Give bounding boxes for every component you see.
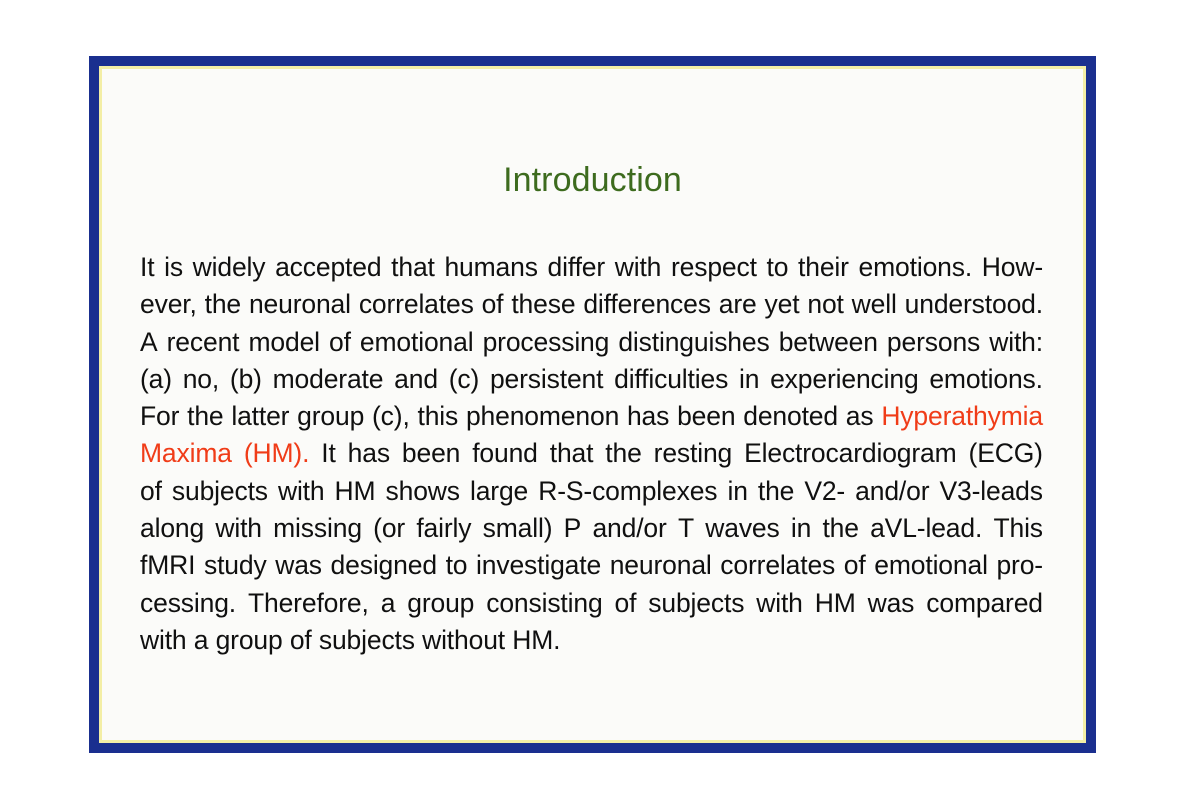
body-line: fMRIstudywasdesignedtoinvestigateneurona…: [140, 547, 1043, 584]
accent-term: Maxima: [140, 435, 232, 472]
body-word: (or: [373, 510, 405, 547]
body-word: along: [140, 510, 204, 547]
body-word: a: [194, 622, 209, 659]
body-word: been: [402, 435, 460, 472]
body-word: model: [248, 324, 319, 361]
body-word: with: [140, 622, 187, 659]
body-word: emotions.: [929, 361, 1043, 398]
body-word: consisting: [486, 585, 602, 622]
word-space: [505, 622, 512, 659]
body-word: group: [297, 398, 364, 435]
body-word: Therefore,: [248, 585, 369, 622]
body-word: the: [187, 398, 223, 435]
body-word: V2-: [804, 473, 845, 510]
body-word: difficulties: [614, 361, 728, 398]
body-word: R-S-complexes: [538, 473, 717, 510]
body-word: that: [391, 249, 435, 286]
body-word: with: [615, 249, 662, 286]
body-word: found: [472, 435, 538, 472]
body-word: is: [164, 249, 183, 286]
body-word: ever,: [140, 286, 197, 323]
accent-term: (HM).: [244, 435, 309, 472]
body-word: this: [417, 398, 458, 435]
word-space: [208, 622, 215, 659]
body-word: of: [140, 473, 162, 510]
body-word: been: [677, 398, 735, 435]
body-word: T: [678, 510, 694, 547]
body-word: humans: [444, 249, 537, 286]
word-space: [187, 622, 194, 659]
body-word: fairly: [416, 510, 471, 547]
body-word: recent: [167, 324, 240, 361]
body-word: was: [275, 547, 322, 584]
body-word: and: [394, 361, 438, 398]
body-word: widely: [193, 249, 266, 286]
body-word: correlates: [720, 547, 835, 584]
body-word: yet: [765, 286, 800, 323]
body-word: of: [482, 286, 504, 323]
body-word: group: [216, 622, 283, 659]
body-word: with: [278, 473, 325, 510]
body-word: V3-leads: [939, 473, 1042, 510]
body-word: in: [727, 473, 747, 510]
body-word: a: [381, 585, 396, 622]
word-space: [560, 622, 567, 659]
body-word: (b): [230, 361, 262, 398]
body-word: of: [615, 585, 637, 622]
word-space: [415, 622, 422, 659]
word-space: [312, 622, 319, 659]
body-word: waves: [705, 510, 779, 547]
body-word: no,: [183, 361, 219, 398]
body-word: with:: [989, 324, 1043, 361]
body-word: large: [470, 473, 528, 510]
body-word: compared: [926, 585, 1043, 622]
body-word: cessing.: [140, 585, 236, 622]
body-word: differ: [548, 249, 606, 286]
body-word: emotions.: [859, 249, 973, 286]
body-word: How-: [982, 249, 1043, 286]
body-word: A: [140, 324, 158, 361]
body-word: fMRI: [140, 547, 195, 584]
presentation-slide: Introduction Itiswidelyacceptedthathuman…: [0, 0, 1181, 787]
body-word: the: [205, 286, 241, 323]
body-word: has: [627, 398, 669, 435]
body-word: accepted: [275, 249, 381, 286]
body-word: and/or: [592, 510, 666, 547]
slide-body-text: Itiswidelyacceptedthathumansdifferwithre…: [140, 249, 1043, 659]
body-word: with: [215, 510, 262, 547]
body-word: the: [822, 510, 858, 547]
body-word: P: [564, 510, 582, 547]
body-word: phenomenon: [466, 398, 619, 435]
body-word: in: [739, 361, 759, 398]
body-word: their: [798, 249, 849, 286]
body-word: was: [868, 585, 915, 622]
accent-term: Hyperathymia: [881, 398, 1043, 435]
body-word: group: [407, 585, 474, 622]
body-word: respect: [671, 249, 757, 286]
body-word: neuronal: [610, 547, 712, 584]
body-word: emotional: [360, 324, 474, 361]
body-line: with a group of subjects without HM.: [140, 622, 1043, 659]
body-word: resting: [654, 435, 733, 472]
body-word: study: [204, 547, 267, 584]
body-word: HM: [335, 473, 376, 510]
body-word: neuronal: [249, 286, 351, 323]
body-line: Arecentmodelofemotionalprocessingdisting…: [140, 324, 1043, 361]
body-word: that: [550, 435, 594, 472]
body-word: For: [140, 398, 179, 435]
body-line: Forthelattergroup(c),thisphenomenonhasbe…: [140, 398, 1043, 435]
body-word: to: [767, 249, 789, 286]
body-word: differences: [583, 286, 711, 323]
body-word: emotional: [874, 547, 988, 584]
body-word: moderate: [273, 361, 384, 398]
body-word: pro-: [996, 547, 1043, 584]
body-word: well: [852, 286, 897, 323]
body-word: (c): [449, 361, 479, 398]
body-word: designed: [331, 547, 437, 584]
body-word: HM: [815, 585, 856, 622]
body-word: shows: [386, 473, 460, 510]
body-word: latter: [231, 398, 289, 435]
slide-content-area: Introduction Itiswidelyacceptedthathuman…: [102, 69, 1083, 740]
body-word: aVL-lead.: [870, 510, 982, 547]
body-word: experiencing: [770, 361, 918, 398]
body-word: Electrocardiogram: [744, 435, 956, 472]
body-word: subjects: [648, 585, 744, 622]
body-word: between: [779, 324, 878, 361]
body-word: (a): [140, 361, 172, 398]
body-word: of: [844, 547, 866, 584]
body-line: ever,theneuronalcorrelatesofthesediffere…: [140, 286, 1043, 323]
body-word: as: [846, 398, 874, 435]
body-word: are: [719, 286, 757, 323]
slide-border-frame: Introduction Itiswidelyacceptedthathuman…: [89, 56, 1096, 753]
body-word: not: [807, 286, 843, 323]
body-word: processing: [483, 324, 610, 361]
body-word: these: [511, 286, 575, 323]
body-word: and/or: [855, 473, 929, 510]
word-space: [283, 622, 290, 659]
body-word: missing: [273, 510, 362, 547]
body-word: has: [348, 435, 390, 472]
body-word: It: [140, 249, 154, 286]
body-word: the: [758, 473, 794, 510]
body-line: alongwithmissing(orfairlysmall)Pand/orTw…: [140, 510, 1043, 547]
slide-inner-rule: Introduction Itiswidelyacceptedthathuman…: [99, 66, 1086, 743]
body-line: ofsubjectswithHMshowslargeR-S-complexesi…: [140, 473, 1043, 510]
body-line: (a)no,(b)moderateand(c)persistentdifficu…: [140, 361, 1043, 398]
body-word: subjects: [319, 622, 415, 659]
body-word: understood.: [905, 286, 1043, 323]
body-word: persistent: [490, 361, 603, 398]
body-word: to: [446, 547, 468, 584]
page-title: Introduction: [102, 160, 1083, 200]
body-word: investigate: [476, 547, 601, 584]
body-word: persons: [887, 324, 980, 361]
body-word: with: [756, 585, 803, 622]
body-word: subjects: [172, 473, 268, 510]
body-word: It: [321, 435, 335, 472]
body-word: (ECG): [969, 435, 1043, 472]
body-line: cessing.Therefore,agroupconsistingofsubj…: [140, 585, 1043, 622]
body-word: of: [329, 324, 351, 361]
body-word: distinguishes: [618, 324, 769, 361]
body-word: correlates: [359, 286, 474, 323]
body-word: small): [483, 510, 553, 547]
body-word: This: [993, 510, 1042, 547]
body-word: without: [422, 622, 505, 659]
body-word: denoted: [743, 398, 838, 435]
body-line: Itiswidelyacceptedthathumansdifferwithre…: [140, 249, 1043, 286]
body-line: Maxima(HM).IthasbeenfoundthattherestingE…: [140, 435, 1043, 472]
body-word: (c),: [372, 398, 410, 435]
body-word: of: [290, 622, 312, 659]
body-word: the: [605, 435, 641, 472]
body-word: in: [791, 510, 811, 547]
body-word: HM.: [512, 622, 560, 659]
